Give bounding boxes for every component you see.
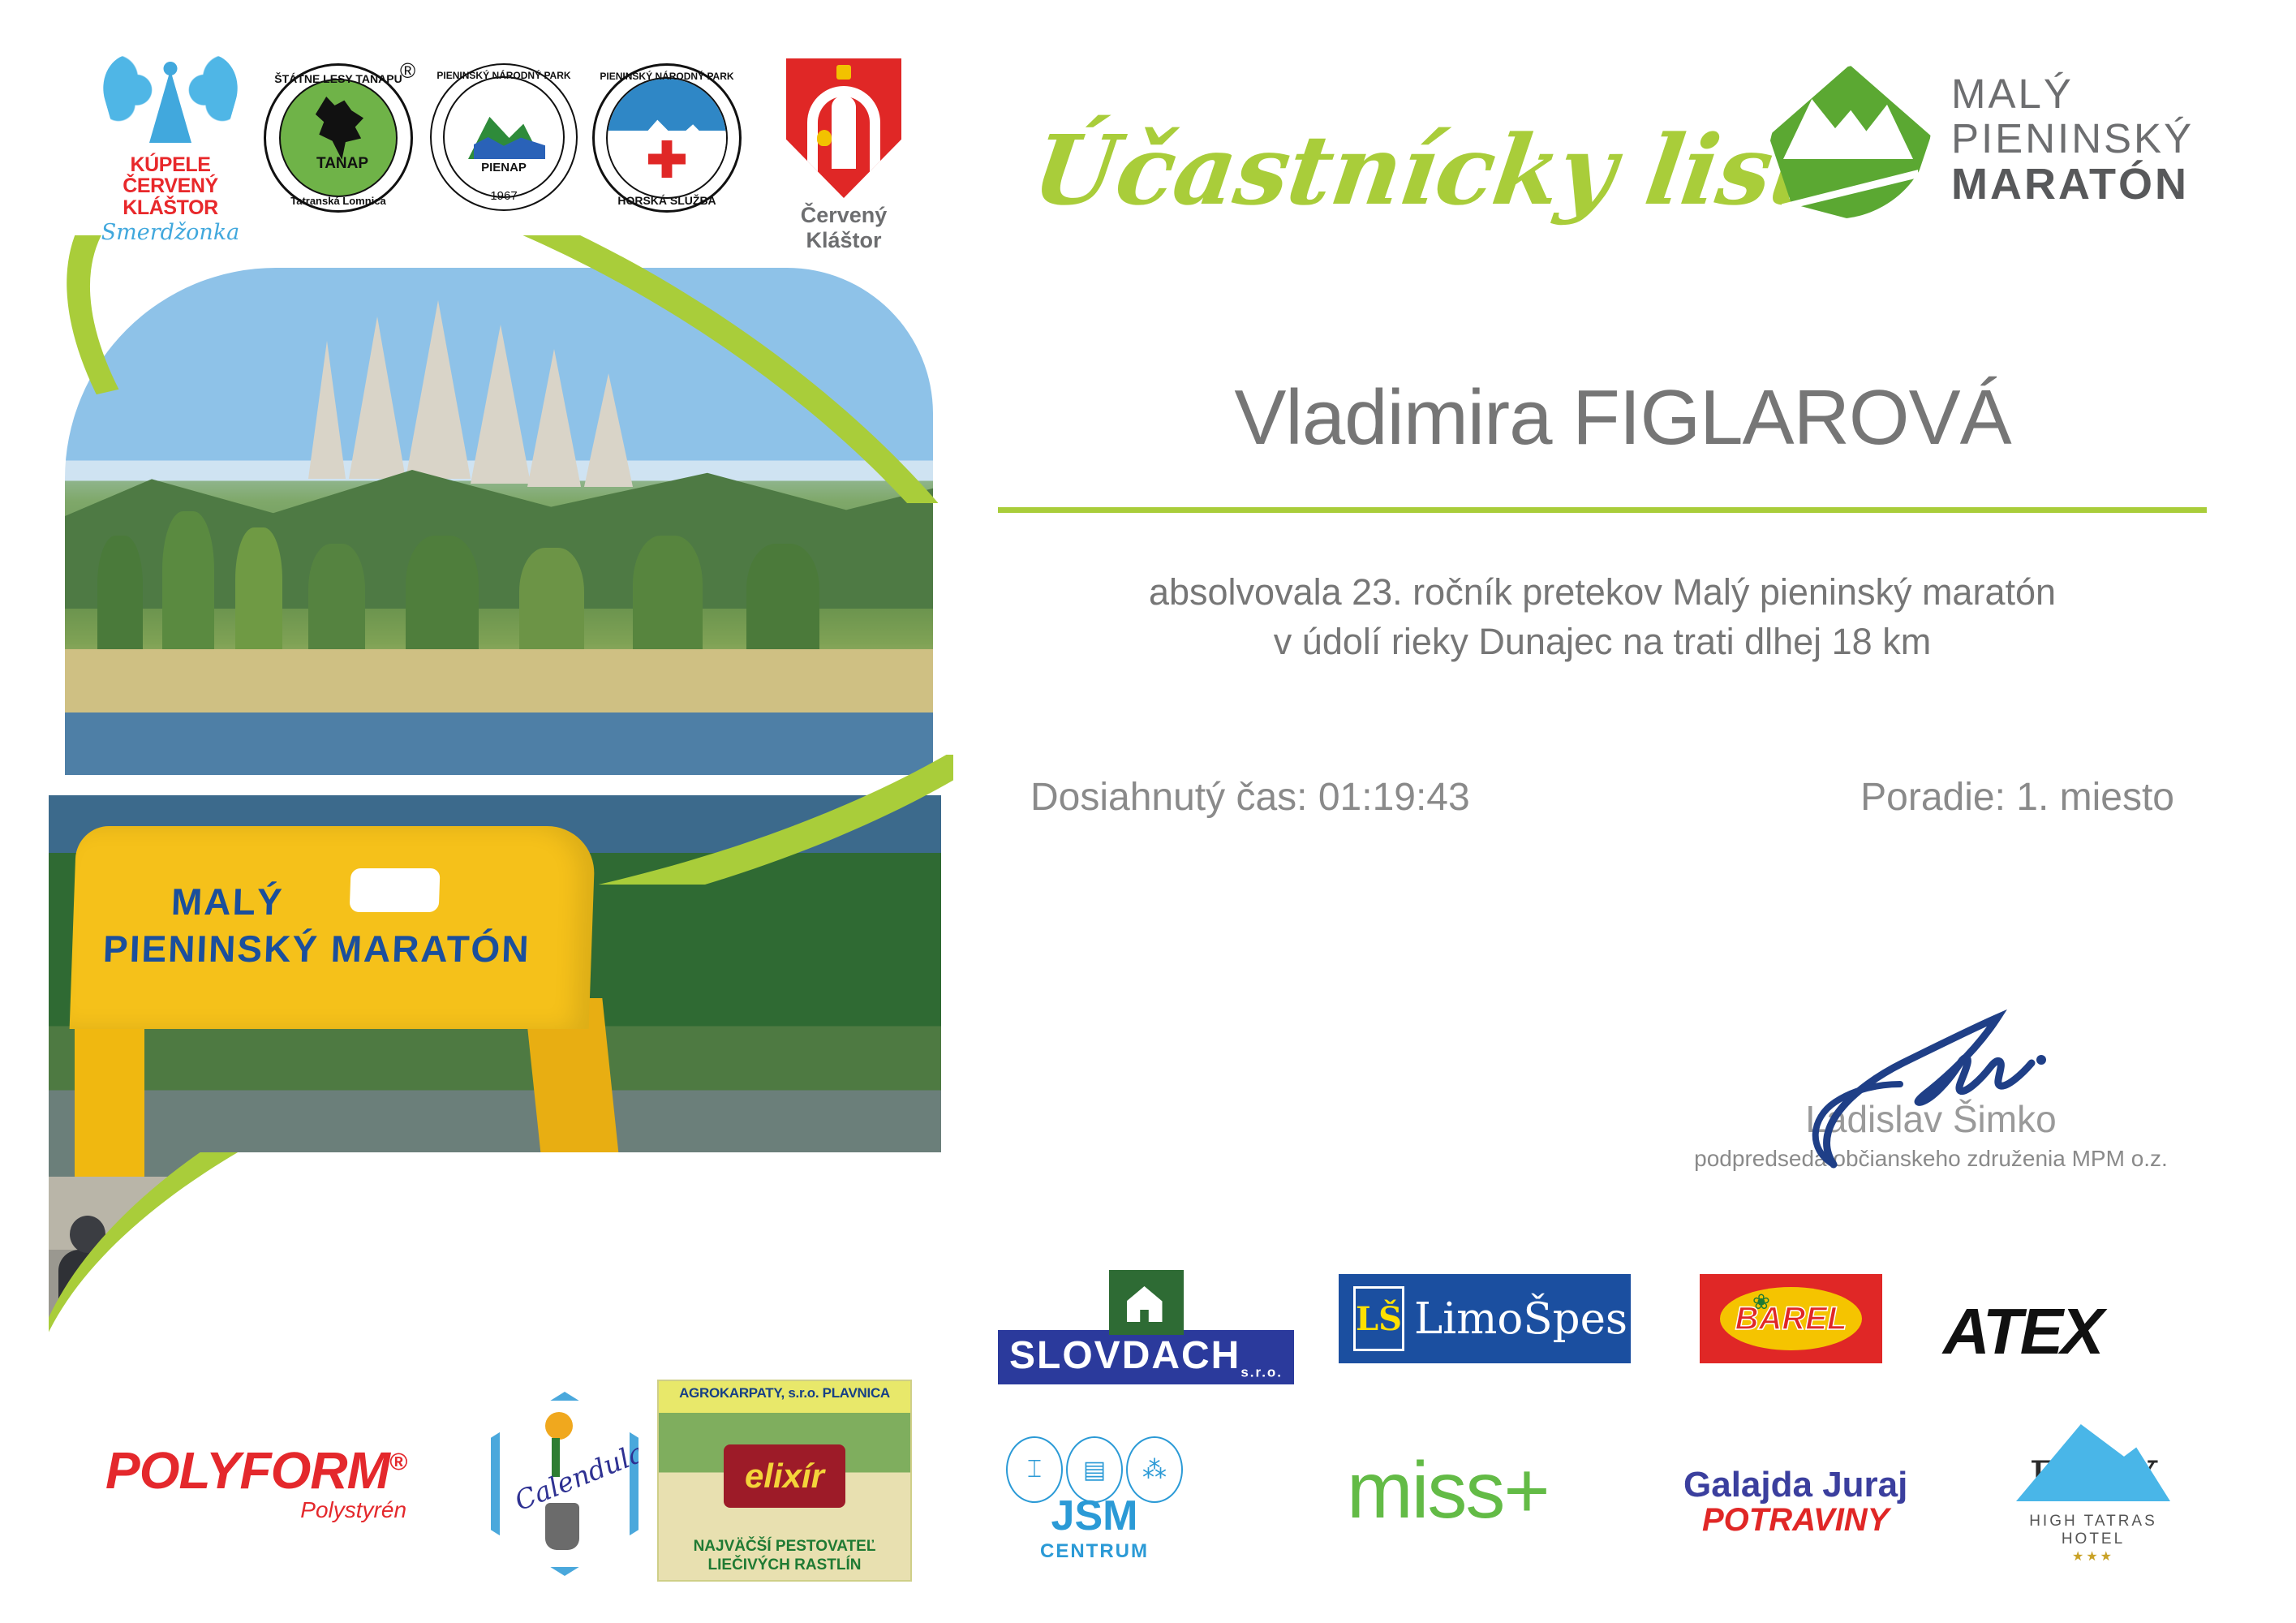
hs-arc-bottom: HORSKÁ SLUŽBA	[595, 194, 739, 207]
agrokarpaty-tagline-1: NAJVÄČŠÍ PESTOVATEĽ	[659, 1537, 910, 1556]
tanap-registered-text: ®	[400, 58, 415, 83]
pienap-year-text: 1967	[490, 189, 517, 203]
sponsor-barel: ❀ BAREL	[1700, 1274, 1882, 1363]
runner-bib: 219	[829, 1349, 871, 1380]
scenic-photo-three-crowns	[65, 268, 933, 775]
galajda-subtitle: POTRAVINY	[1683, 1502, 1907, 1539]
polyform-name: POLYFORM®	[105, 1440, 406, 1500]
finish-time: Dosiahnutý čas: 01:19:43	[1030, 775, 1470, 820]
sponsor-limospes: LŠ LimoŠpes s.r.o.	[1339, 1274, 1631, 1363]
calendula-name: Calendula	[510, 1436, 649, 1517]
sponsor-polyform: POLYFORM® Polystyrén	[105, 1440, 406, 1523]
pienap-arc-top-text: PIENINSKÝ NÁRODNÝ PARK	[436, 70, 570, 81]
runner-bib: 84	[360, 1337, 399, 1367]
galajda-name: Galajda Juraj	[1683, 1465, 1907, 1505]
sponsor-jsm-centrum: ⌶ ▤ ⁂ JSM CENTRUM	[1006, 1436, 1183, 1563]
arch-text-line-2: PIENINSKÝ MARATÓN	[102, 927, 531, 971]
sponsor-miss: miss+	[1347, 1444, 1549, 1536]
event-brand-logo: MALÝ PIENINSKÝ MARATÓN	[1769, 65, 2272, 219]
tanap-arc-bottom-text: Tatranská Lomnica	[290, 195, 386, 207]
pienap-year: 1967	[432, 189, 576, 203]
limospes-mark-icon: LŠ	[1353, 1286, 1404, 1351]
coat-of-arms-icon	[786, 58, 901, 198]
agrokarpaty-tagline: NAJVÄČŠÍ PESTOVATEĽ LIEČIVÝCH RASTLÍN	[659, 1537, 910, 1576]
brand-line-1: MALÝ	[1951, 71, 2194, 116]
jsm-sub: CENTRUM	[1006, 1540, 1183, 1563]
agrokarpaty-header: AGROKARPATY, s.r.o. PLAVNICA	[659, 1381, 910, 1401]
partner-logos-row: KÚPELE ČERVENÝ KLÁŠTOR Smerdžonka TANAP …	[89, 41, 933, 227]
clover-icon: ❀	[1752, 1289, 1770, 1315]
arch-logo-badge	[350, 868, 441, 912]
polyform-tagline: Polystyrén	[105, 1497, 406, 1523]
hs-arc-bottom-text: HORSKÁ SLUŽBA	[617, 194, 716, 207]
sponsor-atex: ATEX	[1943, 1294, 2101, 1369]
handwritten-signature-icon	[1639, 1014, 2223, 1136]
runner-bib: 199	[208, 1321, 250, 1352]
runner-bib: 310	[68, 1308, 109, 1339]
runner-bib: 111	[440, 1289, 488, 1326]
agrokarpaty-brand: elixír	[724, 1444, 845, 1508]
runner-bib: 230	[751, 1342, 793, 1373]
participant-name: Vladimira FIGLAROVÁ	[1034, 373, 2211, 463]
logo-obec-cerveny-klastor: Červený Kláštor	[763, 58, 925, 253]
polyform-name-text: POLYFORM	[105, 1441, 389, 1500]
star-rating-icon: ★★★	[2000, 1548, 2186, 1565]
limospes-suffix: s.r.o.	[1645, 1326, 1662, 1358]
runner-bib: 109	[594, 1336, 638, 1368]
result-row: Dosiahnutý čas: 01:19:43 Poradie: 1. mie…	[998, 775, 2207, 820]
runner-bib: 110	[282, 1315, 326, 1347]
signature-block: Ladislav Šimko podpredseda občianskeho z…	[1639, 1014, 2223, 1172]
slovdach-name-text: SLOVDACH	[1009, 1334, 1240, 1377]
tanap-arc-bottom: Tatranská Lomnica	[266, 195, 411, 207]
agrokarpaty-tagline-2: LIEČIVÝCH RASTLÍN	[659, 1556, 910, 1575]
logo-statne-lesy-tanapu: TANAP ŠTÁTNE LESY TANAPU Tatranská Lomni…	[264, 63, 413, 213]
logo-horska-sluzba: PIENINSKÝ NÁRODNÝ PARK HORSKÁ SLUŽBA	[592, 63, 742, 213]
sponsor-slovdach: SLOVDACHs.r.o.	[998, 1270, 1294, 1384]
logo-kupele-cerveny-klastor: KÚPELE ČERVENÝ KLÁŠTOR Smerdžonka	[89, 49, 252, 245]
kupele-angel-icon	[89, 49, 252, 154]
tanap-arc-top: ŠTÁTNE LESY TANAPU	[266, 72, 411, 85]
hs-arc-top: PIENINSKÝ NÁRODNÝ PARK	[595, 71, 739, 82]
sponsor-agrokarpaty: AGROKARPATY, s.r.o. PLAVNICA elixír NAJV…	[657, 1380, 909, 1582]
sponsor-galajda-juraj: Galajda Juraj POTRAVINY	[1683, 1465, 1907, 1539]
tanap-mark-text: TANAP	[316, 155, 368, 172]
registered-icon: ®	[389, 1449, 406, 1476]
logo-pieninsky-narodny-park: PIENAP PIENINSKÝ NÁRODNÝ PARK 1967	[430, 63, 578, 211]
arch-text-line-1: MALÝ	[170, 880, 284, 923]
sponsor-rysy-hotel: RYSY HIGH TATRAS HOTEL ★★★	[2000, 1424, 2186, 1565]
kupele-title: KÚPELE ČERVENÝ KLÁŠTOR	[89, 154, 252, 218]
page-title: Účastnícky list	[1026, 114, 1822, 226]
sponsor-calendula: Calendula	[491, 1392, 638, 1576]
pienap-arc-top: PIENINSKÝ NÁRODNÝ PARK	[432, 70, 576, 81]
rank-placement: Poradie: 1. miesto	[1860, 775, 2174, 820]
achievement-text: absolvovala 23. ročník pretekov Malý pie…	[998, 568, 2207, 667]
achievement-line-2: v údolí rieky Dunajec na trati dlhej 18 …	[998, 618, 2207, 667]
runner-bib: 273	[135, 1328, 177, 1358]
registered-icon: ®	[400, 58, 415, 84]
limospes-name: LimoŠpes	[1414, 1294, 1627, 1344]
photo-collage: MALÝ PIENINSKÝ MARATÓN 310 273 199 110 8…	[49, 235, 953, 1526]
tanap-monogram: TANAP	[316, 157, 362, 191]
slovdach-house-icon	[1109, 1270, 1184, 1335]
brand-line-2: PIENINSKÝ	[1951, 116, 2194, 161]
slovdach-suffix: s.r.o.	[1240, 1365, 1283, 1380]
calendula-hex-icon: Calendula	[491, 1392, 638, 1576]
inflatable-start-arch: MALÝ PIENINSKÝ MARATÓN	[70, 826, 596, 1029]
hs-arc-top-text: PIENINSKÝ NÁRODNÝ PARK	[600, 71, 733, 82]
pienap-mark-text: PIENAP	[481, 161, 527, 174]
slovdach-name: SLOVDACHs.r.o.	[998, 1330, 1294, 1384]
pienap-mark: PIENAP	[432, 161, 576, 174]
tanap-arc-top-text: ŠTÁTNE LESY TANAPU	[274, 72, 402, 85]
mpm-leaf-mountain-icon	[1769, 65, 1931, 219]
achievement-line-1: absolvovala 23. ročník pretekov Malý pie…	[998, 568, 2207, 618]
rysy-subtitle: HIGH TATRAS HOTEL	[2000, 1513, 2186, 1548]
race-start-photo: MALÝ PIENINSKÝ MARATÓN 310 273 199 110 8…	[49, 795, 941, 1436]
name-divider-rule	[998, 507, 2207, 513]
brand-line-3: MARATÓN	[1951, 161, 2194, 209]
runner-figure	[58, 1250, 118, 1436]
